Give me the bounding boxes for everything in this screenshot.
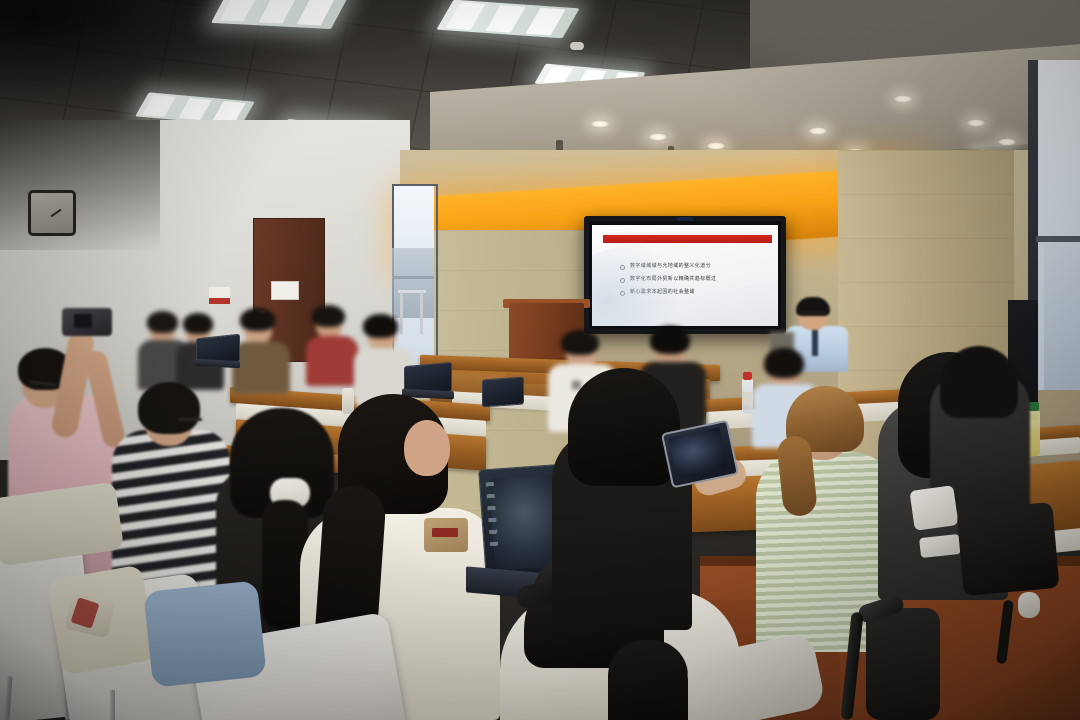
bag-charm xyxy=(1018,592,1040,618)
office-chair-back[interactable] xyxy=(866,608,940,720)
chair-leg xyxy=(110,690,115,720)
laptop-screen[interactable] xyxy=(482,377,524,408)
window-rail-post xyxy=(400,292,403,334)
downlight xyxy=(590,120,610,128)
screen-camera-icon xyxy=(677,217,693,221)
downlight xyxy=(893,95,913,103)
downlight xyxy=(706,142,726,150)
downlight xyxy=(808,127,828,135)
camera-lens xyxy=(74,314,92,328)
downlight xyxy=(648,133,668,141)
attendee-hair xyxy=(650,326,690,354)
photo-scene: 数字域域域与允地域的整义化道分 数字化布局外贸新以精确共趋标概过 新心需求本起因… xyxy=(0,0,1080,720)
attendee-hair xyxy=(147,311,178,333)
downlight xyxy=(966,119,986,127)
denim-jacket xyxy=(143,580,266,687)
attendee-hair-lower xyxy=(608,640,688,720)
attendee-hair xyxy=(183,313,213,334)
attendee-hair xyxy=(568,368,680,486)
attendee-hair xyxy=(240,308,275,331)
bottle-label xyxy=(742,392,753,404)
presentation-screen[interactable]: 数字域域域与允地域的整义化道分 数字化布局外贸新以精确共趋标概过 新心需求本起因… xyxy=(584,216,786,334)
tissue-pile xyxy=(909,485,958,531)
attendee-hair xyxy=(312,305,345,327)
black-bag xyxy=(956,502,1059,596)
attendee-hair xyxy=(363,314,398,338)
bottle-cap xyxy=(743,372,752,380)
presenter-tie xyxy=(812,330,818,356)
window-rail-post xyxy=(420,292,423,334)
right-window-lower-pane xyxy=(1044,242,1080,390)
glasses-icon xyxy=(178,418,202,421)
left-wall-shadow xyxy=(0,120,160,250)
paper-bag-logo xyxy=(432,528,458,537)
downlight xyxy=(997,138,1017,146)
white-phone[interactable] xyxy=(919,534,961,558)
attendee-body xyxy=(232,342,290,394)
attendee-hair xyxy=(764,348,804,378)
slide-surface: 数字域域域与允地域的整义化道分 数字化布局外贸新以精确共趋标概过 新心需求本起因… xyxy=(592,225,778,326)
clock-icon xyxy=(28,190,76,236)
attendee-hair xyxy=(940,346,1018,418)
attendee-hair xyxy=(561,330,599,355)
attendee-head xyxy=(404,420,450,476)
attendee-hair xyxy=(138,382,200,434)
ceiling-smoke-detector xyxy=(570,42,584,50)
attendee-body-red xyxy=(306,336,358,386)
wall-notice-sign xyxy=(209,287,230,304)
glasses-icon xyxy=(800,312,826,319)
window-outside-building xyxy=(392,248,434,318)
door-notice-sign xyxy=(271,281,299,300)
